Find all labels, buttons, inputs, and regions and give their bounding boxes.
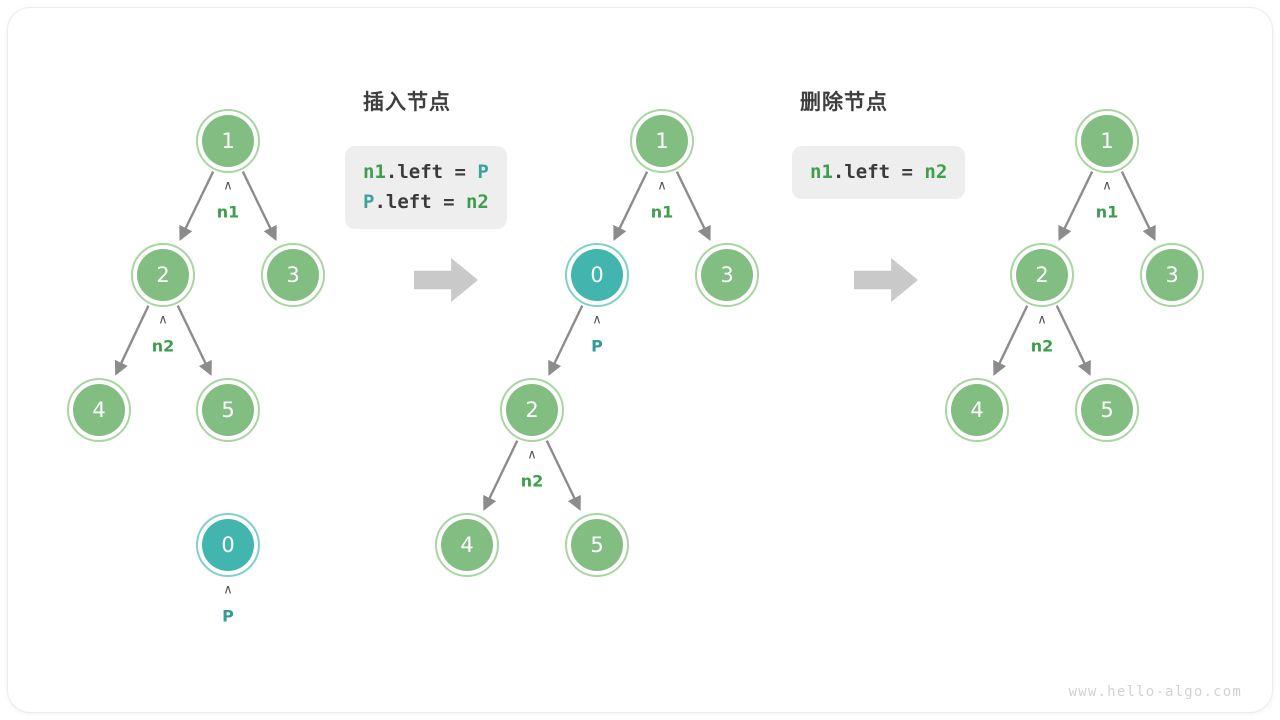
code-token: n1 (363, 161, 386, 183)
pointer-label: n2 (152, 337, 175, 356)
code-token: P (363, 191, 374, 213)
node-value-label: 1 (221, 129, 234, 153)
code-token: n2 (466, 191, 489, 213)
node-value-label: 1 (655, 129, 668, 153)
delete-node-1[interactable]: 1 (1076, 110, 1138, 172)
code-token: .left = (386, 161, 478, 183)
before-node-0[interactable]: 0 (197, 514, 259, 576)
before-node-3[interactable]: 3 (262, 244, 324, 306)
pointer-caret-icon: ∧ (657, 179, 667, 194)
code-token: P (477, 161, 488, 183)
node-value-label: 2 (525, 398, 538, 422)
code-token: n1 (810, 161, 833, 183)
pointer-caret-icon: ∧ (158, 313, 168, 328)
node-value-label: 1 (1100, 129, 1113, 153)
before-node-5[interactable]: 5 (197, 379, 259, 441)
pointer-caret-icon: ∧ (223, 583, 233, 598)
insert-node-0[interactable]: 0 (566, 244, 628, 306)
diagram-canvas: 123450∧n1∧n2∧P103245∧n1∧P∧n212345∧n1∧n2 … (0, 0, 1280, 720)
node-value-label: 0 (590, 263, 603, 287)
insert-node-1[interactable]: 1 (631, 110, 693, 172)
pointer-label: n1 (651, 203, 674, 222)
pointer-label: n2 (521, 472, 544, 491)
before-node-1[interactable]: 1 (197, 110, 259, 172)
node-value-label: 4 (92, 398, 105, 422)
delete-node-5[interactable]: 5 (1076, 379, 1138, 441)
code-box-delete: n1.left = n2 (792, 146, 965, 199)
code-token: .left = (833, 161, 925, 183)
pointer-label: n1 (1096, 203, 1119, 222)
node-value-label: 4 (460, 533, 473, 557)
pointer-label: P (222, 607, 234, 626)
node-value-label: 3 (720, 263, 733, 287)
pointer-caret-icon: ∧ (1102, 179, 1112, 194)
code-token: .left = (374, 191, 466, 213)
node-value-label: 5 (1100, 398, 1113, 422)
before-node-2[interactable]: 2 (132, 244, 194, 306)
before-node-4[interactable]: 4 (68, 379, 130, 441)
delete-node-2[interactable]: 2 (1011, 244, 1073, 306)
panel-title-insert: 插入节点 (363, 86, 451, 116)
node-value-label: 3 (1165, 263, 1178, 287)
code-line: n1.left = P (363, 157, 489, 187)
code-line: n1.left = n2 (810, 157, 947, 187)
pointer-caret-icon: ∧ (1037, 313, 1047, 328)
pointer-caret-icon: ∧ (527, 448, 537, 463)
pointer-label: P (591, 337, 603, 356)
node-value-label: 2 (1035, 263, 1048, 287)
pointer-label: n2 (1031, 337, 1054, 356)
pointer-caret-icon: ∧ (223, 179, 233, 194)
node-value-label: 5 (221, 398, 234, 422)
delete-node-4[interactable]: 4 (946, 379, 1008, 441)
node-value-label: 4 (970, 398, 983, 422)
pointer-caret-icon: ∧ (592, 313, 602, 328)
node-value-label: 0 (221, 533, 234, 557)
watermark: www.hello-algo.com (1069, 684, 1242, 700)
node-value-label: 5 (590, 533, 603, 557)
insert-node-3[interactable]: 3 (696, 244, 758, 306)
code-token: n2 (924, 161, 947, 183)
code-line: P.left = n2 (363, 187, 489, 217)
insert-node-2[interactable]: 2 (501, 379, 563, 441)
insert-node-5[interactable]: 5 (566, 514, 628, 576)
node-value-label: 3 (286, 263, 299, 287)
insert-node-4[interactable]: 4 (436, 514, 498, 576)
code-box-insert: n1.left = PP.left = n2 (345, 146, 507, 229)
delete-node-3[interactable]: 3 (1141, 244, 1203, 306)
pointer-label: n1 (217, 203, 240, 222)
panel-title-delete: 删除节点 (800, 86, 888, 116)
node-value-label: 2 (156, 263, 169, 287)
